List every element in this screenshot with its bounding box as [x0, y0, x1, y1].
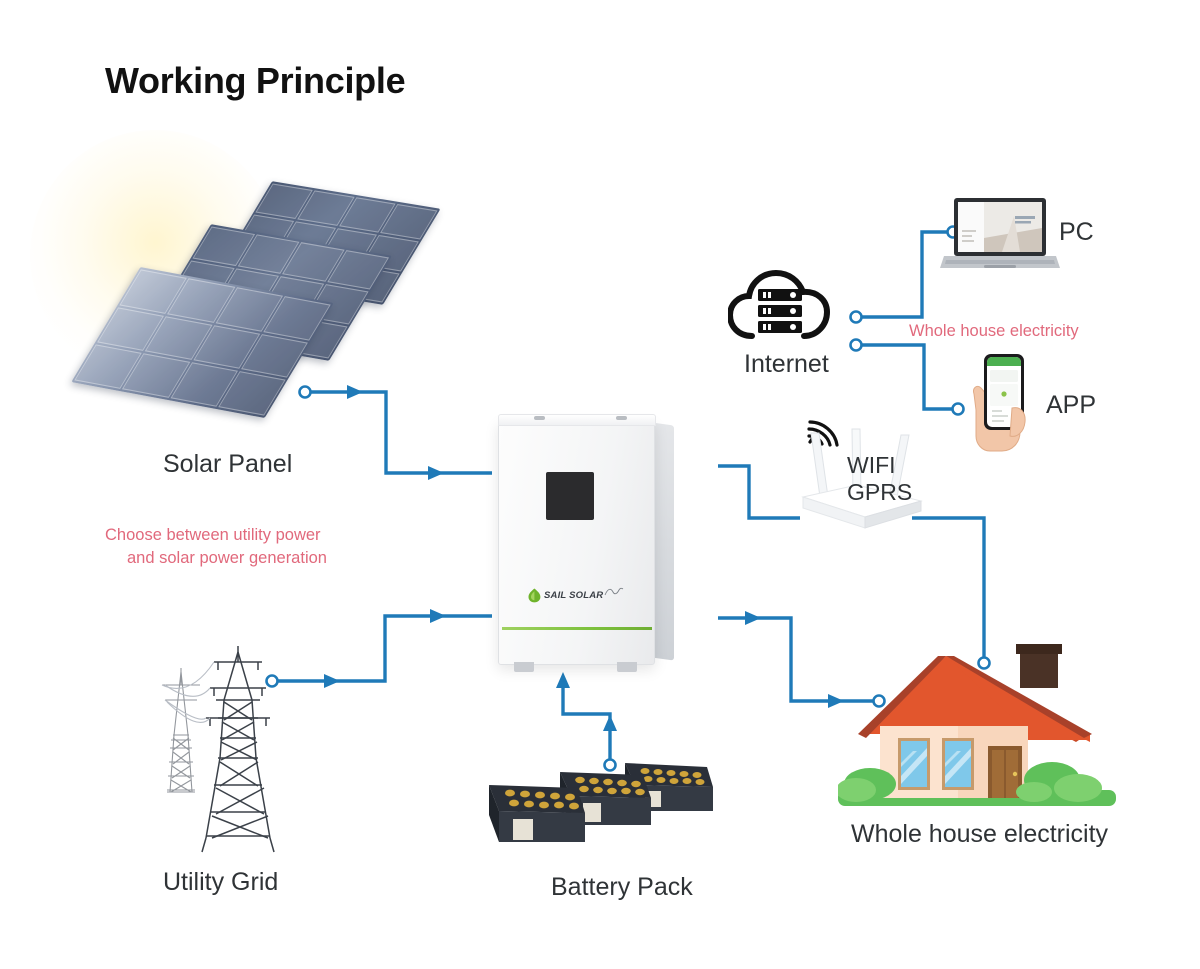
inverter-top-bracket: [498, 414, 656, 426]
choose-power-note-line1: Choose between utility power: [105, 524, 321, 547]
battery-pack-label: Battery Pack: [551, 873, 693, 902]
router-label-line2: GPRS: [847, 479, 912, 506]
utility-grid-label: Utility Grid: [163, 868, 278, 897]
inverter-mount-hole-right: [616, 416, 627, 420]
inverter-mount-hole-left: [534, 416, 545, 420]
wire-grid-to-inverter: [272, 616, 492, 681]
solar-panel-label: Solar Panel: [163, 450, 292, 479]
inverter-brand-logo: SAIL SOLAR: [528, 588, 633, 603]
brand-script-flourish: [604, 586, 624, 598]
battery-pack-icon: [485, 745, 720, 860]
wire-internet-to-pc: [858, 232, 950, 317]
choose-power-note-line2: and solar power generation: [127, 547, 327, 570]
working-principle-diagram: Working Principle: [0, 0, 1200, 969]
node-internet-app: [851, 340, 862, 351]
inverter-side-panel: [652, 422, 674, 660]
pc-label: PC: [1059, 218, 1094, 247]
app-label: APP: [1046, 391, 1096, 420]
inverter-status-stripe: [502, 627, 652, 630]
whole-house-electricity-note: Whole house electricity: [909, 320, 1079, 343]
inverter-brand-text: SAIL SOLAR: [544, 590, 603, 601]
internet-label: Internet: [744, 350, 829, 379]
laptop-icon: [940, 198, 1060, 274]
leaf-icon: [528, 588, 541, 603]
cloud-server-icon: [728, 268, 846, 343]
wire-internet-to-app: [858, 345, 955, 409]
router-label-line1: WIFI: [847, 452, 912, 479]
wire-inverter-to-router: [718, 466, 800, 518]
battery-module-front: [489, 785, 585, 842]
inverter-display-screen[interactable]: [546, 472, 594, 520]
solar-panel-icon: [60, 195, 420, 410]
router-label: WIFI GPRS: [847, 452, 912, 506]
phone-in-hand-icon: [962, 348, 1042, 453]
house-label: Whole house electricity: [851, 820, 1108, 849]
tower-near: [202, 646, 274, 852]
node-internet-pc: [851, 312, 862, 323]
transmission-tower-icon: [140, 640, 300, 855]
inverter-foot-left: [514, 662, 534, 672]
page-title: Working Principle: [105, 60, 405, 102]
inverter-icon: SAIL SOLAR: [498, 410, 673, 670]
inverter-foot-right: [617, 662, 637, 672]
house-icon: [838, 638, 1116, 818]
power-lines: [162, 662, 214, 722]
